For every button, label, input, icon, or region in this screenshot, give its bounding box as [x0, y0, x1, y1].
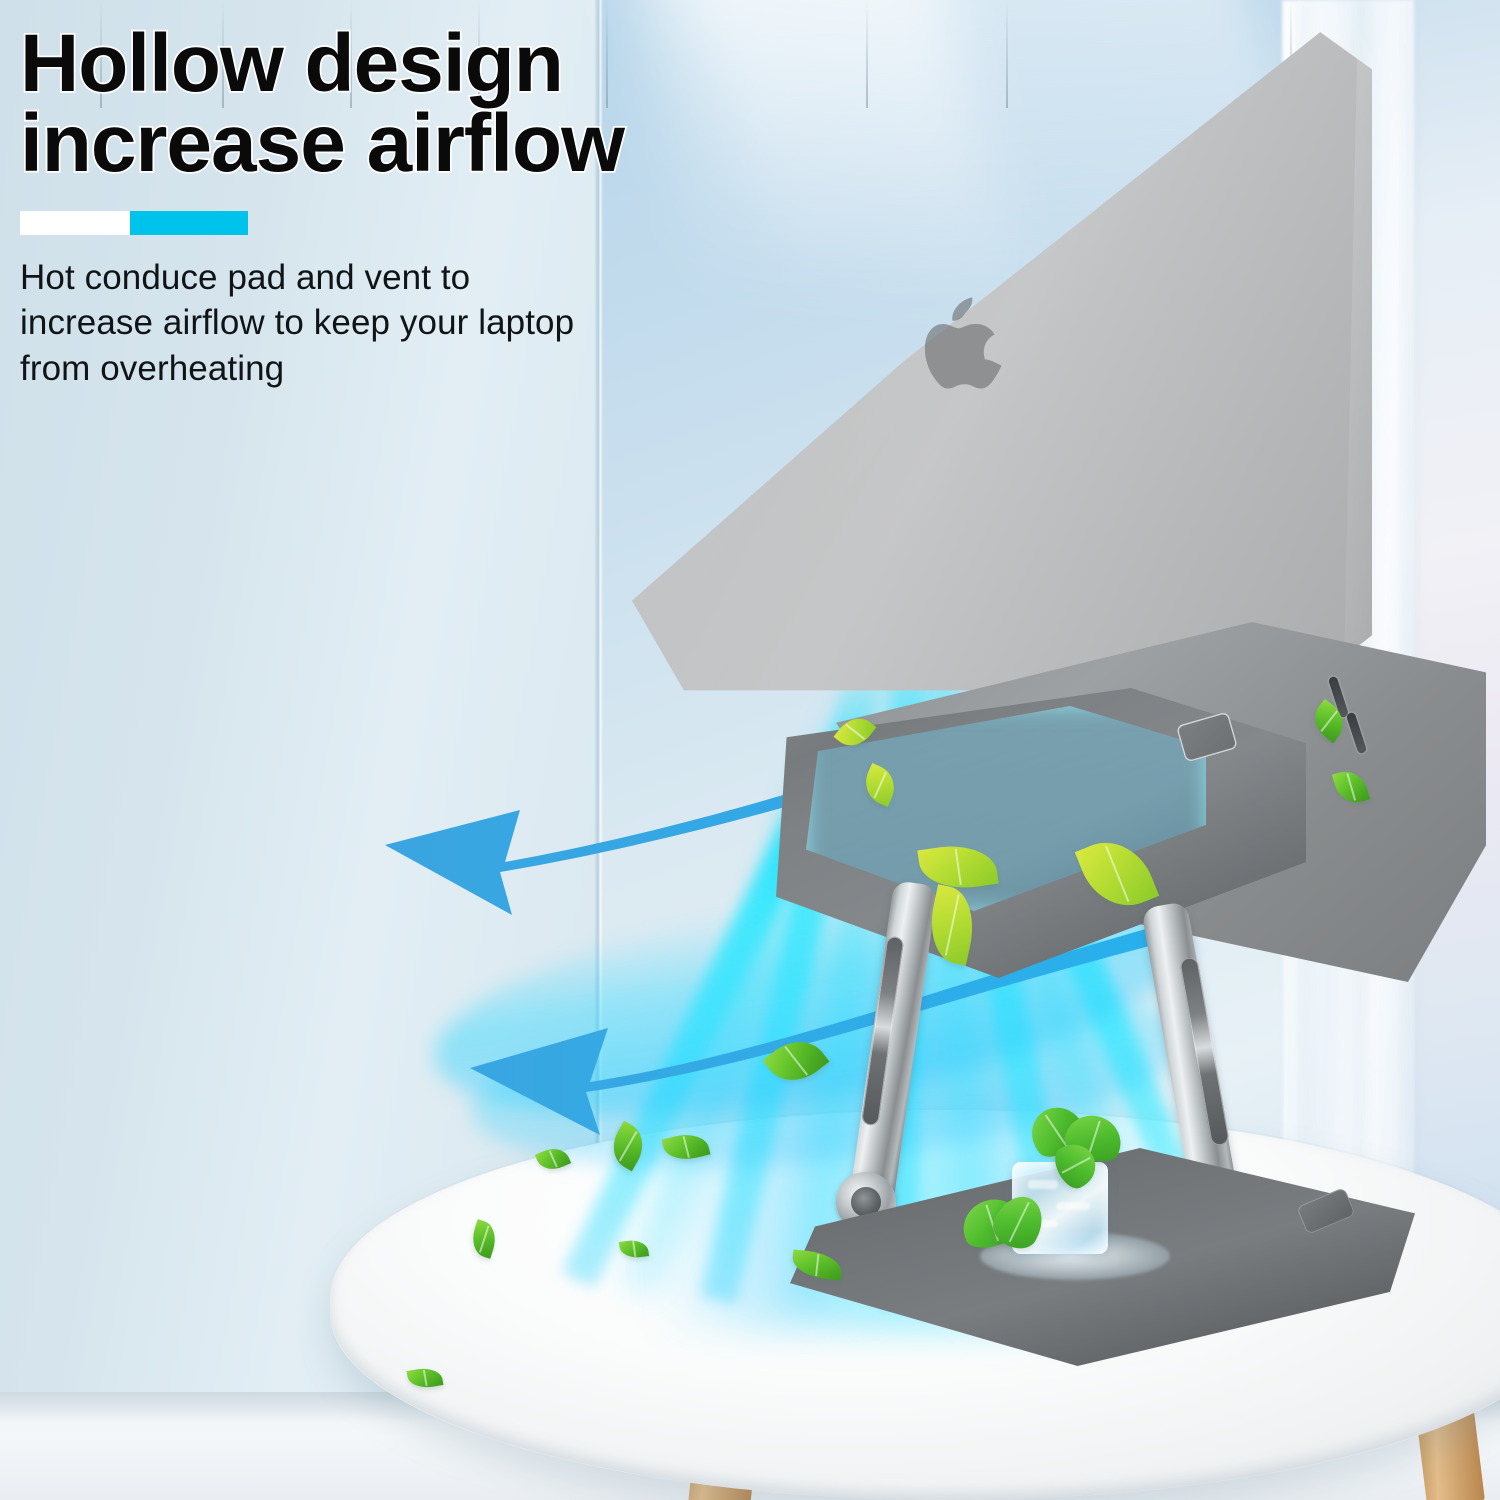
headline: Hollow design increase airflow — [20, 24, 880, 185]
divider-segment-accent — [130, 211, 248, 235]
leaf-vein — [423, 1370, 427, 1387]
leaf-vein — [1062, 1157, 1091, 1173]
leaf-vein — [955, 849, 962, 886]
leaf-vein — [1346, 773, 1355, 801]
leaf-vein — [945, 894, 959, 955]
ice-facet — [1028, 1180, 1058, 1189]
subtext: Hot conduce pad and vent to increase air… — [20, 255, 600, 392]
text-block: Hollow design increase airflow Hot condu… — [20, 24, 880, 391]
leaf-vein — [845, 724, 864, 740]
leaf-vein — [1321, 711, 1338, 732]
leaf-vein — [479, 1225, 489, 1253]
divider-segment-white — [20, 211, 130, 235]
leaf-vein — [632, 1241, 636, 1256]
leaf-vein — [683, 1136, 690, 1158]
leaf-vein — [549, 1150, 558, 1167]
leaf-vein — [874, 772, 887, 799]
divider — [20, 211, 880, 235]
apple-logo-icon — [918, 297, 1004, 401]
leaf-vein — [619, 1131, 637, 1161]
leaf-vein — [1045, 1115, 1068, 1148]
product-banner: Hollow design increase airflow Hot condu… — [0, 0, 1500, 1500]
leaf-vein — [1009, 1202, 1029, 1242]
ice-facet — [1056, 1202, 1090, 1210]
leaf-vein — [1105, 846, 1129, 903]
leaf-vein — [815, 1254, 819, 1276]
leaf-vein — [785, 1047, 808, 1076]
